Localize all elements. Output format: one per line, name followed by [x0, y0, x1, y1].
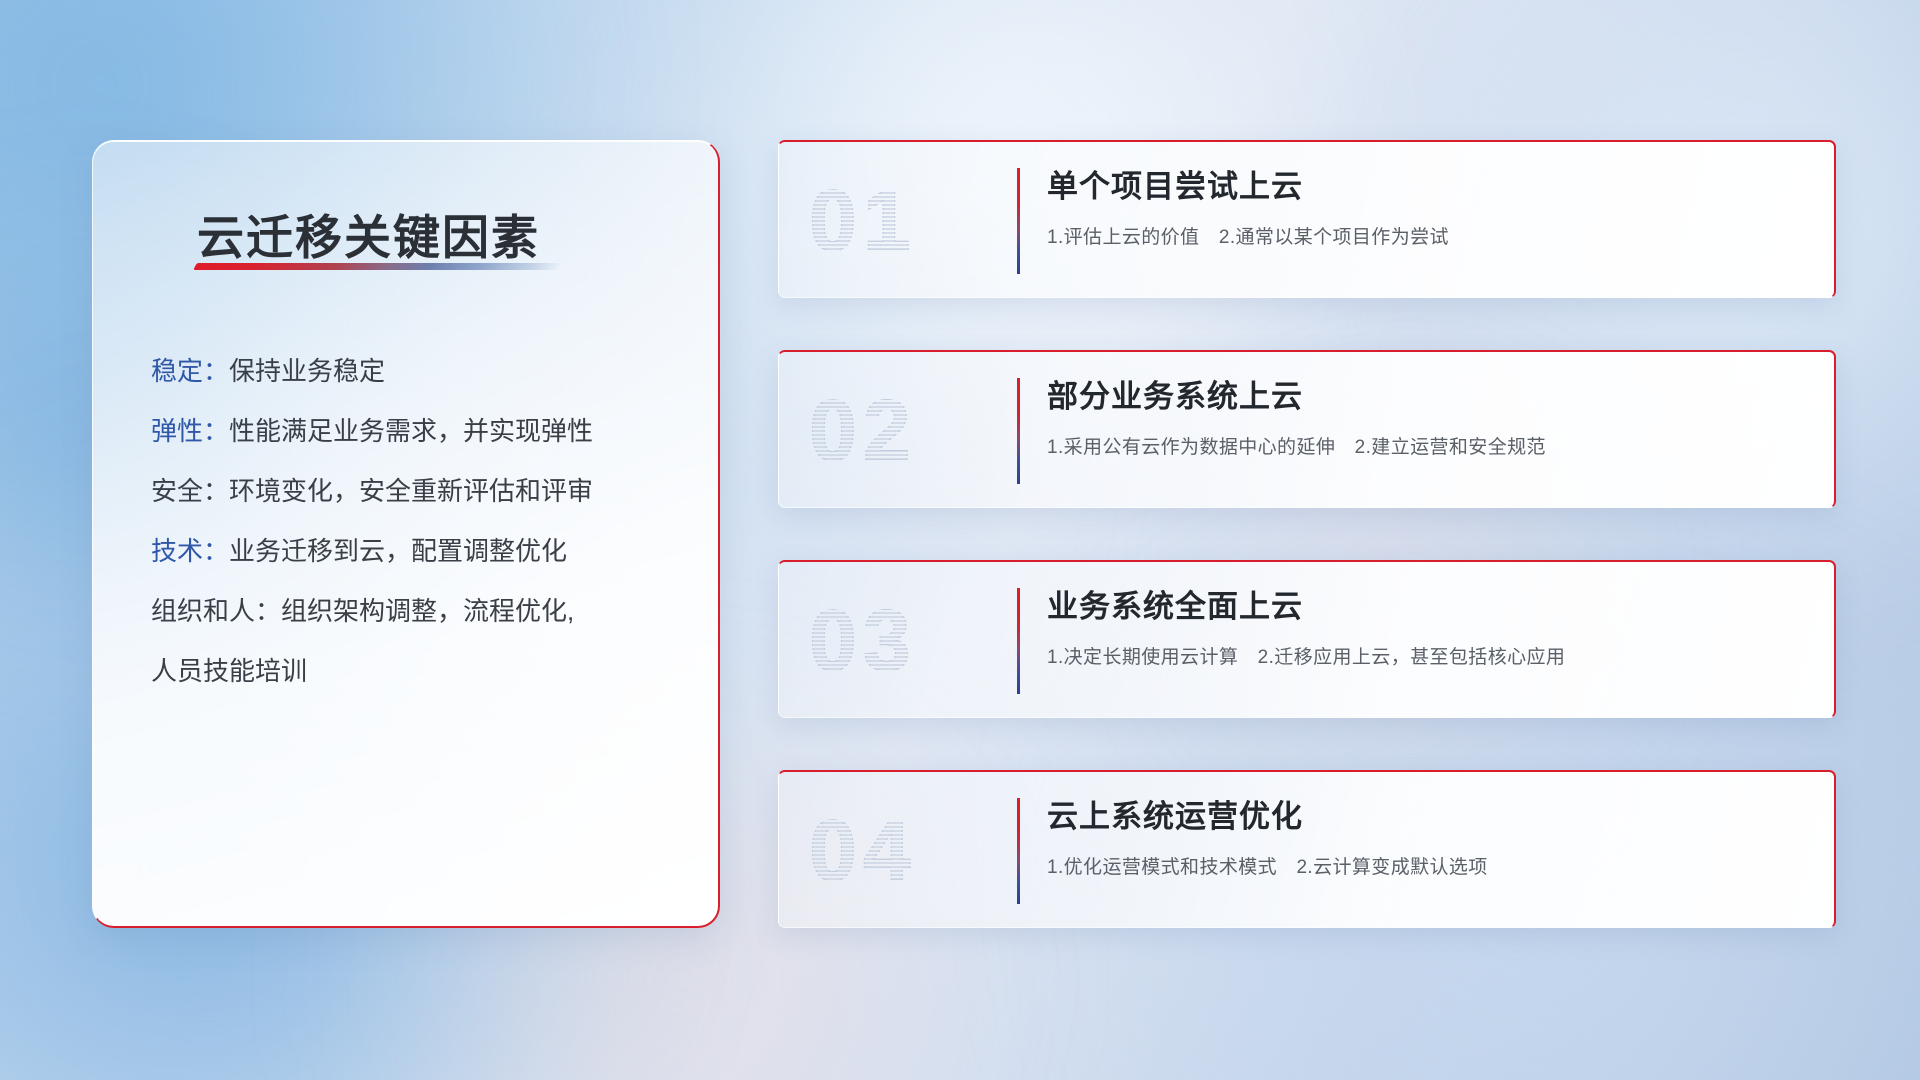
factor-item-stability: 稳定：保持业务稳定 [151, 341, 671, 401]
stage-card-title: 单个项目尝试上云 [1047, 164, 1810, 210]
key-factors-panel: 云迁移关键因素 稳定：保持业务稳定 弹性：性能满足业务需求，并实现弹性 安全：环… [92, 140, 720, 928]
factor-item-organization: 组织和人：组织架构调整，流程优化, [151, 581, 671, 641]
stage-card-title: 云上系统运营优化 [1047, 794, 1810, 840]
factor-label: 稳定： [151, 356, 229, 386]
factor-label: 安全： [151, 476, 229, 506]
stage-card-02[interactable]: 02 部分业务系统上云 1.采用公有云作为数据中心的延伸 2.建立运营和安全规范 [778, 350, 1836, 508]
stage-number-ghost: 04 [809, 786, 917, 916]
factor-content: 保持业务稳定 [229, 356, 385, 386]
stage-accent-bar [1017, 798, 1020, 904]
stage-card-subtitle: 1.优化运营模式和技术模式 2.云计算变成默认选项 [1047, 852, 1810, 879]
factor-item-technology: 技术：业务迁移到云，配置调整优化 [151, 521, 671, 581]
factor-content: 环境变化，安全重新评估和评审 [229, 476, 593, 506]
stage-number-ghost: 03 [809, 576, 917, 706]
stage-card-04[interactable]: 04 云上系统运营优化 1.优化运营模式和技术模式 2.云计算变成默认选项 [778, 770, 1836, 928]
factor-content: 人员技能培训 [151, 656, 307, 686]
stage-accent-bar [1017, 168, 1020, 274]
factor-item-security: 安全：环境变化，安全重新评估和评审 [151, 461, 671, 521]
stage-card-subtitle: 1.评估上云的价值 2.通常以某个项目作为尝试 [1047, 222, 1810, 249]
factor-label: 弹性： [151, 416, 229, 446]
stage-number-ghost: 02 [809, 366, 917, 496]
slide-stage: 云迁移关键因素 稳定：保持业务稳定 弹性：性能满足业务需求，并实现弹性 安全：环… [0, 0, 1920, 1080]
factor-list: 稳定：保持业务稳定 弹性：性能满足业务需求，并实现弹性 安全：环境变化，安全重新… [151, 341, 671, 701]
factor-item-organization-line2: 人员技能培训 [151, 641, 671, 701]
title-underline-accent [193, 263, 563, 270]
stage-card-title: 部分业务系统上云 [1047, 374, 1810, 420]
stage-card-subtitle: 1.采用公有云作为数据中心的延伸 2.建立运营和安全规范 [1047, 432, 1810, 459]
factor-label: 技术： [151, 536, 229, 566]
stage-card-01[interactable]: 01 单个项目尝试上云 1.评估上云的价值 2.通常以某个项目作为尝试 [778, 140, 1836, 298]
stage-number-ghost: 01 [809, 156, 917, 286]
panel-title: 云迁移关键因素 [197, 199, 540, 268]
stage-card-body: 云上系统运营优化 1.优化运营模式和技术模式 2.云计算变成默认选项 [1047, 794, 1810, 879]
stage-card-03[interactable]: 03 业务系统全面上云 1.决定长期使用云计算 2.迁移应用上云，甚至包括核心应… [778, 560, 1836, 718]
factor-content: 业务迁移到云，配置调整优化 [229, 536, 567, 566]
stage-card-list: 01 单个项目尝试上云 1.评估上云的价值 2.通常以某个项目作为尝试 02 部… [778, 140, 1836, 980]
stage-card-body: 业务系统全面上云 1.决定长期使用云计算 2.迁移应用上云，甚至包括核心应用 [1047, 584, 1810, 669]
factor-label: 组织和人： [151, 596, 281, 626]
stage-card-body: 单个项目尝试上云 1.评估上云的价值 2.通常以某个项目作为尝试 [1047, 164, 1810, 249]
stage-accent-bar [1017, 588, 1020, 694]
stage-card-title: 业务系统全面上云 [1047, 584, 1810, 630]
factor-item-elasticity: 弹性：性能满足业务需求，并实现弹性 [151, 401, 671, 461]
factor-content: 性能满足业务需求，并实现弹性 [229, 416, 593, 446]
stage-card-body: 部分业务系统上云 1.采用公有云作为数据中心的延伸 2.建立运营和安全规范 [1047, 374, 1810, 459]
stage-card-subtitle: 1.决定长期使用云计算 2.迁移应用上云，甚至包括核心应用 [1047, 642, 1810, 669]
factor-content: 组织架构调整，流程优化, [281, 596, 574, 626]
stage-accent-bar [1017, 378, 1020, 484]
